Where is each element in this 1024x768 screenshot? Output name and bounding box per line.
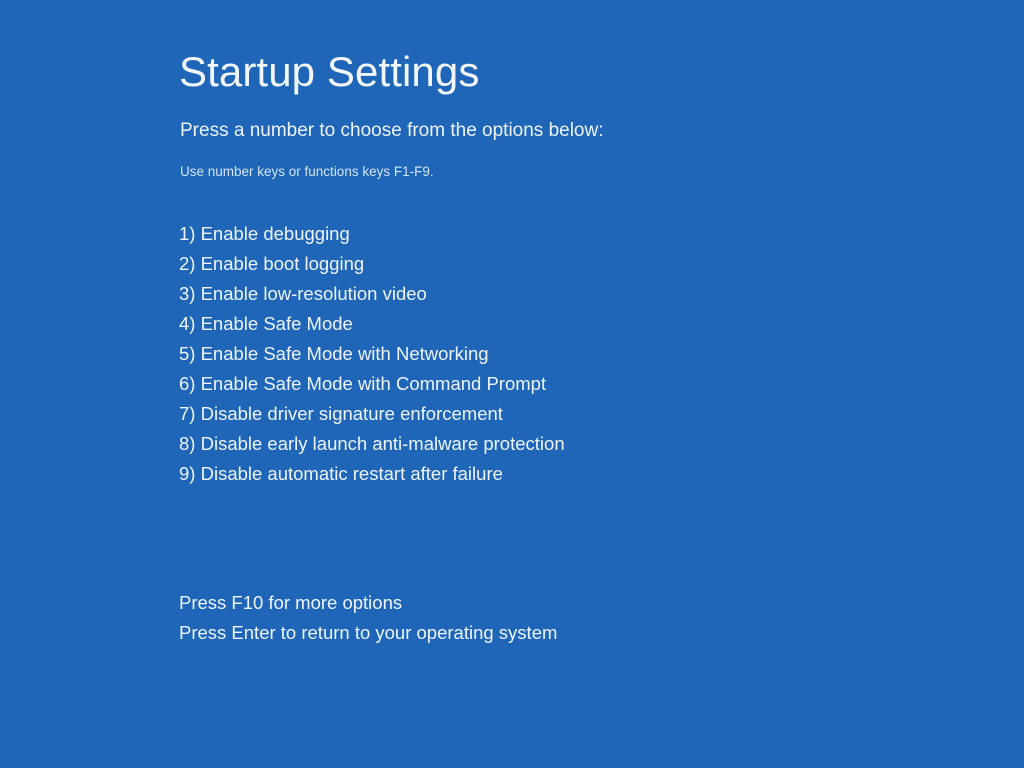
option-label: Enable Safe Mode with Networking [201, 343, 489, 364]
option-key: 8) [179, 433, 195, 454]
option-label: Disable automatic restart after failure [201, 463, 503, 484]
startup-option-5[interactable]: 5) Enable Safe Mode with Networking [179, 339, 565, 369]
option-label: Enable debugging [201, 223, 350, 244]
startup-option-7[interactable]: 7) Disable driver signature enforcement [179, 399, 565, 429]
more-options-hint[interactable]: Press F10 for more options [179, 588, 557, 618]
instruction-text: Press a number to choose from the option… [180, 119, 604, 143]
startup-option-4[interactable]: 4) Enable Safe Mode [179, 309, 565, 339]
option-key: 1) [179, 223, 195, 244]
startup-option-6[interactable]: 6) Enable Safe Mode with Command Prompt [179, 369, 565, 399]
startup-option-9[interactable]: 9) Disable automatic restart after failu… [179, 459, 565, 489]
option-key: 2) [179, 253, 195, 274]
option-label: Disable early launch anti-malware protec… [201, 433, 565, 454]
option-label: Enable boot logging [201, 253, 365, 274]
option-key: 5) [179, 343, 195, 364]
startup-option-1[interactable]: 1) Enable debugging [179, 219, 565, 249]
page-title: Startup Settings [179, 47, 479, 97]
startup-settings-screen: Startup Settings Press a number to choos… [0, 0, 1024, 768]
startup-option-2[interactable]: 2) Enable boot logging [179, 249, 565, 279]
footer-actions: Press F10 for more options Press Enter t… [179, 588, 557, 648]
option-key: 7) [179, 403, 195, 424]
option-key: 9) [179, 463, 195, 484]
option-key: 3) [179, 283, 195, 304]
option-label: Enable Safe Mode [201, 313, 353, 334]
option-key: 4) [179, 313, 195, 334]
option-label: Enable Safe Mode with Command Prompt [201, 373, 547, 394]
option-key: 6) [179, 373, 195, 394]
startup-option-3[interactable]: 3) Enable low-resolution video [179, 279, 565, 309]
key-hint-text: Use number keys or functions keys F1-F9. [180, 163, 434, 181]
return-to-os-hint[interactable]: Press Enter to return to your operating … [179, 618, 557, 648]
option-label: Enable low-resolution video [201, 283, 427, 304]
startup-options-list: 1) Enable debugging 2) Enable boot loggi… [179, 219, 565, 489]
startup-option-8[interactable]: 8) Disable early launch anti-malware pro… [179, 429, 565, 459]
option-label: Disable driver signature enforcement [201, 403, 503, 424]
